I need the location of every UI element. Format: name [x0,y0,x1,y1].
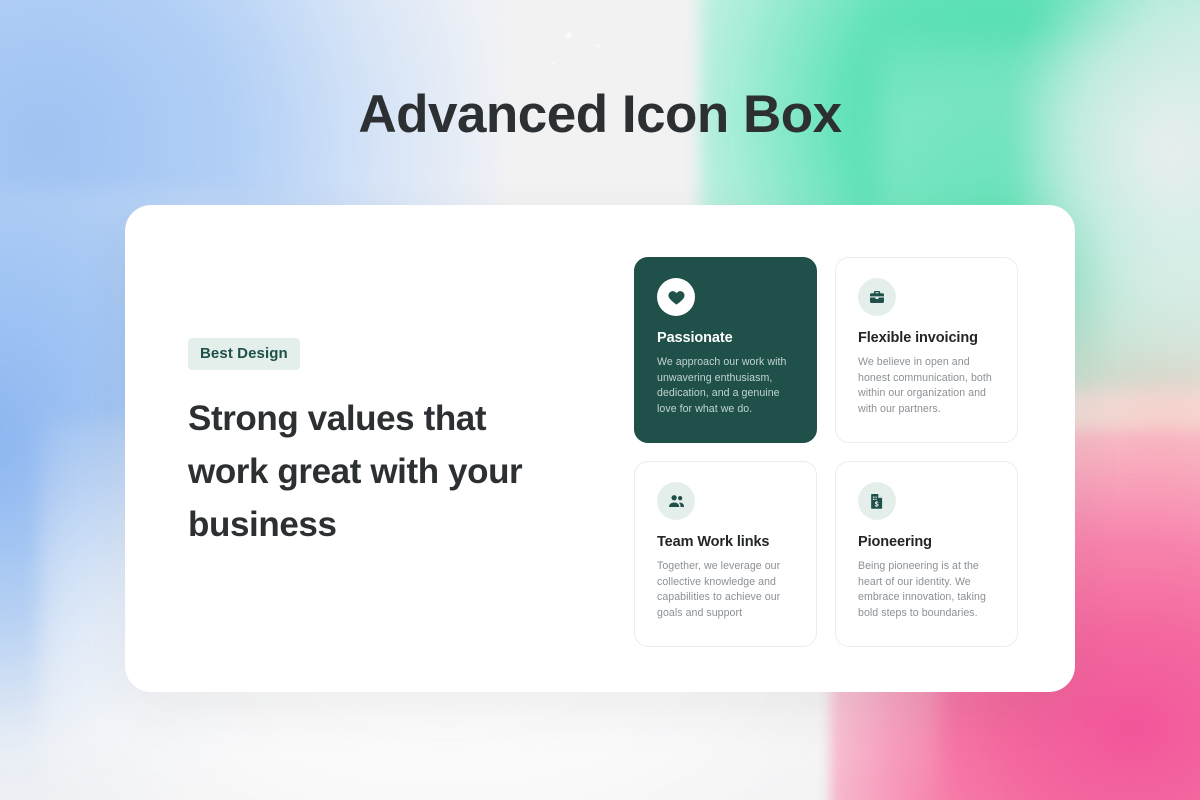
feature-card-body: Together, we leverage our collective kno… [657,559,794,621]
feature-card-body: Being pioneering is at the heart of our … [858,559,995,621]
best-design-badge: Best Design [188,338,300,370]
panel-left-column: Best Design Strong values that work grea… [188,338,588,551]
heart-icon [657,278,695,316]
decorative-dot-1 [565,32,572,39]
decorative-dot-2 [596,44,600,48]
feature-card-title: Passionate [657,330,794,346]
feature-card-pioneering[interactable]: $ Pioneering Being pioneering is at the … [835,461,1018,647]
advanced-icon-box-panel: Best Design Strong values that work grea… [125,205,1075,692]
svg-text:$: $ [875,501,879,508]
feature-card-body: We believe in open and honest communicat… [858,355,995,417]
feature-card-flexible-invoicing[interactable]: Flexible invoicing We believe in open an… [835,257,1018,443]
feature-card-body: We approach our work with unwavering ent… [657,355,794,417]
feature-card-team-work-links[interactable]: Team Work links Together, we leverage ou… [634,461,817,647]
page-title: Advanced Icon Box [0,84,1200,145]
feature-card-title: Team Work links [657,534,794,550]
invoice-document-icon: $ [858,482,896,520]
feature-card-title: Flexible invoicing [858,330,995,346]
briefcase-icon [858,278,896,316]
feature-card-title: Pioneering [858,534,995,550]
feature-card-passionate[interactable]: Passionate We approach our work with unw… [634,257,817,443]
panel-headline: Strong values that work great with your … [188,392,558,551]
users-icon [657,482,695,520]
page-stage: Advanced Icon Box Best Design Strong val… [0,0,1200,800]
feature-card-grid: Passionate We approach our work with unw… [634,257,1018,647]
decorative-dot-3 [552,62,555,65]
